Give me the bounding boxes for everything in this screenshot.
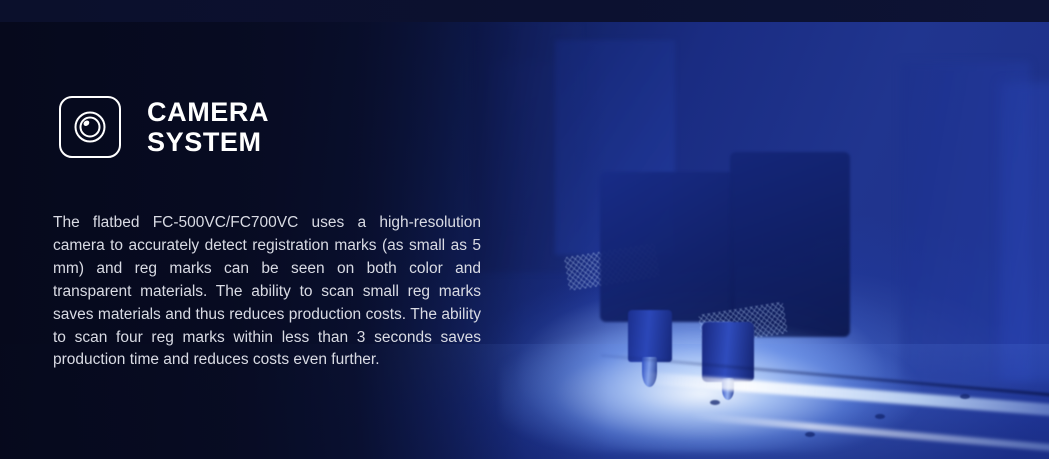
title-line-2: SYSTEM: [147, 127, 269, 157]
camera-lens-icon: [59, 96, 121, 158]
page-title: CAMERA SYSTEM: [147, 97, 269, 157]
title-line-1: CAMERA: [147, 97, 269, 127]
camera-system-banner: CAMERA SYSTEM The flatbed FC-500VC/FC700…: [0, 0, 1049, 459]
heading-row: CAMERA SYSTEM: [59, 96, 269, 158]
banner-content: CAMERA SYSTEM The flatbed FC-500VC/FC700…: [0, 22, 1049, 459]
top-dark-strip: [0, 0, 1049, 22]
body-paragraph: The flatbed FC-500VC/FC700VC uses a high…: [53, 212, 481, 372]
